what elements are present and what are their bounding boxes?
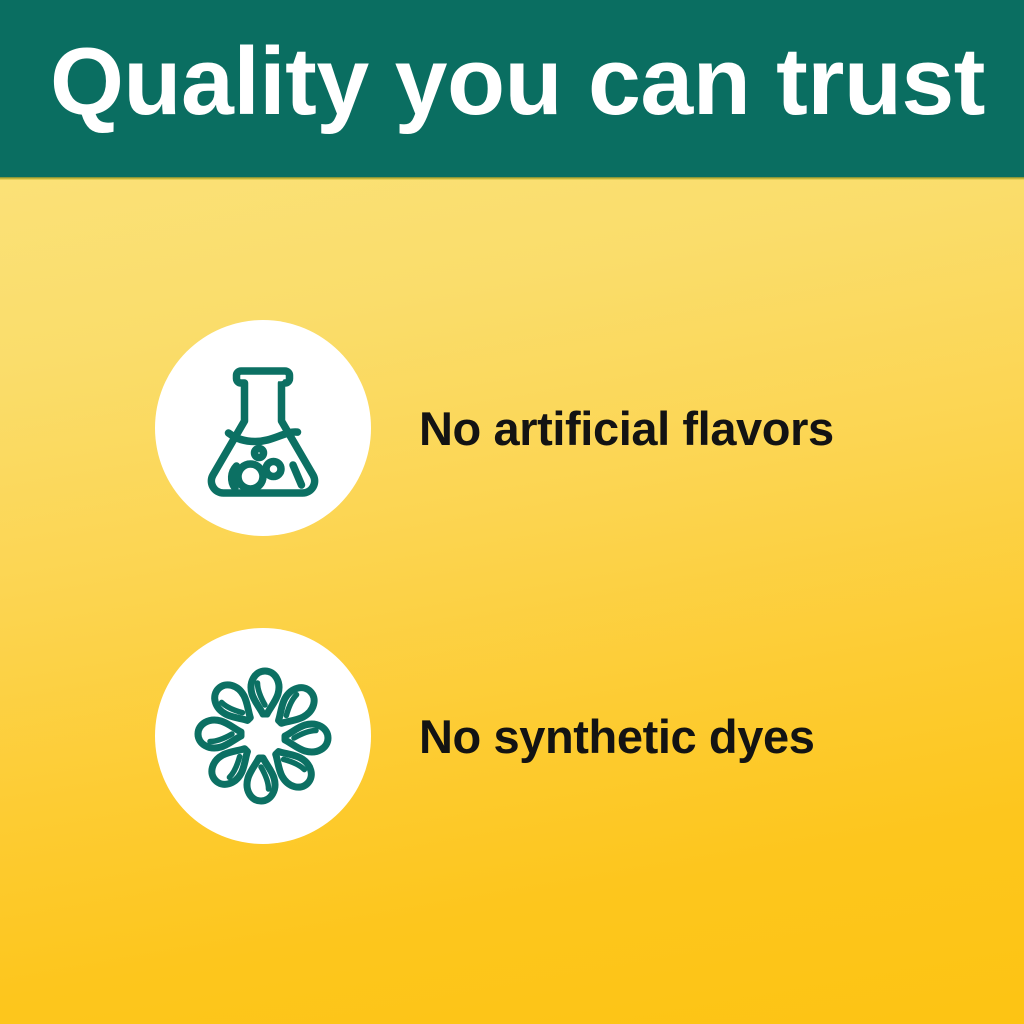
page-title: Quality you can trust <box>50 26 1000 138</box>
icon-badge <box>155 628 371 844</box>
quality-claims-poster: Quality you can trust <box>0 0 1024 1024</box>
header-banner: Quality you can trust <box>0 0 1024 177</box>
splash-droplets-icon <box>183 656 343 816</box>
feature-label: No artificial flavors <box>419 405 834 452</box>
icon-badge <box>155 320 371 536</box>
feature-label: No synthetic dyes <box>419 713 814 760</box>
flask-icon <box>188 353 338 503</box>
feature-row: No artificial flavors <box>155 320 834 536</box>
feature-row: No synthetic dyes <box>155 628 814 844</box>
body-background <box>0 180 1024 1024</box>
